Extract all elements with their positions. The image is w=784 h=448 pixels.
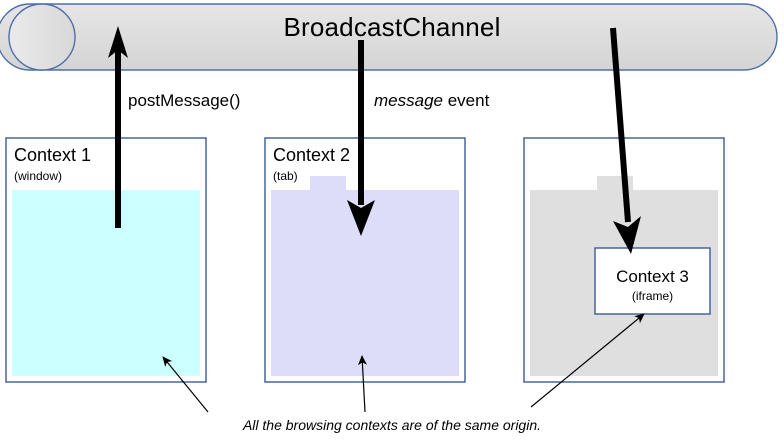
message-event-label-italic: message — [374, 91, 443, 110]
diagram-canvas: BroadcastChannel postMessage() message e… — [0, 0, 784, 448]
diagram-graphics — [0, 0, 784, 448]
message-event-label: message event — [374, 92, 489, 109]
context-3-iframe-title: Context 3 — [595, 268, 710, 285]
context-1-viewport — [12, 190, 200, 376]
context-1-title: Context 1 — [14, 146, 91, 164]
context-2-tab-handle — [310, 176, 346, 191]
context-3-iframe-subtitle: (iframe) — [595, 290, 710, 302]
same-origin-caption: All the browsing contexts are of the sam… — [0, 418, 784, 432]
message-event-label-rest: event — [443, 91, 489, 110]
broadcastchannel-label: BroadcastChannel — [0, 14, 784, 40]
context-1-subtitle: (window) — [14, 170, 62, 182]
context-2-subtitle: (tab) — [273, 170, 298, 182]
context-2-title: Context 2 — [273, 146, 350, 164]
postmessage-label: postMessage() — [128, 92, 240, 109]
